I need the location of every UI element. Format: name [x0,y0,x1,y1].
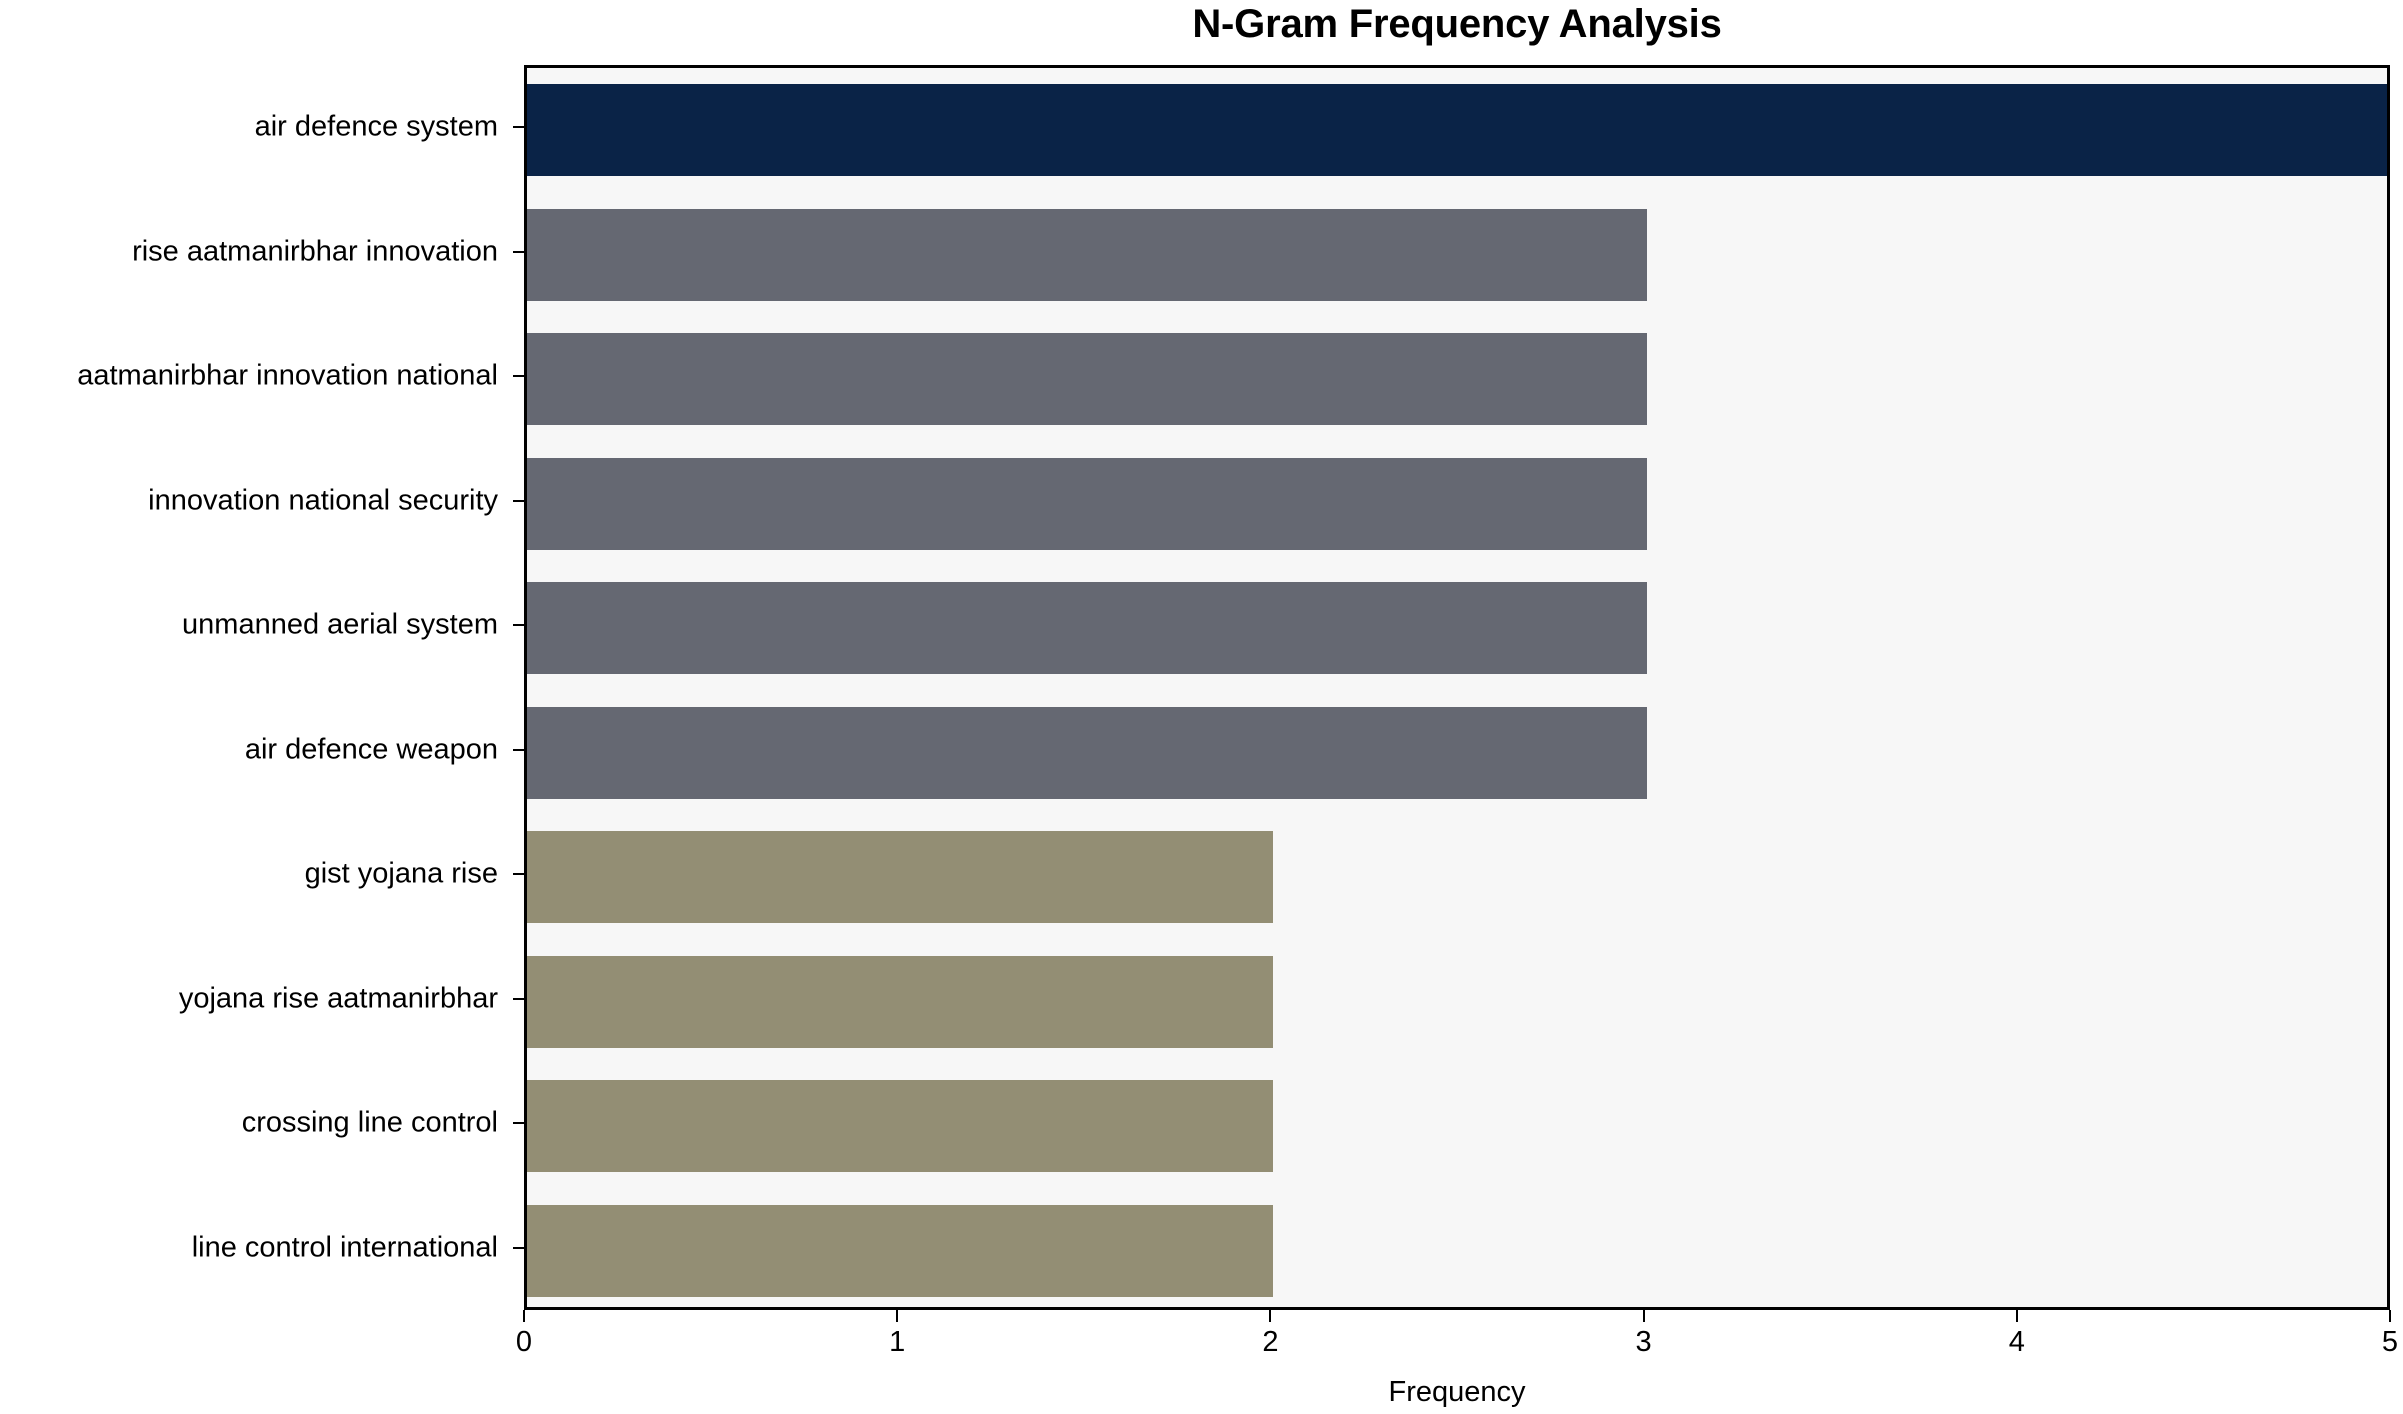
bar-row [527,831,2387,923]
y-tick-label: air defence system [255,111,498,144]
y-tick-label: unmanned aerial system [182,609,498,642]
y-tick-mark [513,873,524,875]
bar-row [527,209,2387,301]
x-tick-mark [1643,1310,1645,1322]
x-tick-mark [2389,1310,2391,1322]
bars-layer [527,68,2387,1307]
bar-line-control-international[interactable] [527,1205,1273,1297]
bar-rise-aatmanirbhar-innovation[interactable] [527,209,1647,301]
y-tick-label: gist yojana rise [305,858,498,891]
y-tick-label: rise aatmanirbhar innovation [132,235,498,268]
y-tick-mark [513,500,524,502]
x-tick-label: 0 [516,1326,532,1359]
y-axis: air defence systemrise aatmanirbhar inno… [0,65,524,1310]
x-tick-label: 5 [2382,1326,2398,1359]
x-axis: Frequency 012345 [524,1310,2390,1414]
bar-row [527,956,2387,1048]
x-tick-mark [1269,1310,1271,1322]
x-tick-label: 4 [2009,1326,2025,1359]
plot-area [524,65,2390,1310]
x-axis-title: Frequency [524,1376,2390,1409]
y-tick-label: aatmanirbhar innovation national [77,360,498,393]
bar-row [527,1205,2387,1297]
figure-canvas: N-Gram Frequency Analysis air defence sy… [0,0,2403,1414]
bar-row [527,1080,2387,1172]
y-tick-label: crossing line control [242,1107,498,1140]
y-tick-label: line control international [192,1231,498,1264]
bar-air-defence-weapon[interactable] [527,707,1647,799]
x-tick-label: 3 [1636,1326,1652,1359]
chart-title: N-Gram Frequency Analysis [524,2,2390,47]
y-tick-label: air defence weapon [245,733,498,766]
y-tick-mark [513,375,524,377]
x-tick-mark [523,1310,525,1322]
x-tick-label: 2 [1262,1326,1278,1359]
bar-yojana-rise-aatmanirbhar[interactable] [527,956,1273,1048]
bar-row [527,582,2387,674]
y-tick-label: yojana rise aatmanirbhar [179,982,498,1015]
bar-gist-yojana-rise[interactable] [527,831,1273,923]
bar-air-defence-system[interactable] [527,84,2387,176]
x-tick-label: 1 [889,1326,905,1359]
y-tick-mark [513,126,524,128]
bar-row [527,333,2387,425]
x-tick-mark [896,1310,898,1322]
bar-row [527,84,2387,176]
y-tick-label: innovation national security [148,484,498,517]
x-tick-mark [2016,1310,2018,1322]
y-tick-mark [513,1122,524,1124]
bar-row [527,707,2387,799]
y-tick-mark [513,998,524,1000]
bar-unmanned-aerial-system[interactable] [527,582,1647,674]
y-tick-mark [513,251,524,253]
y-tick-mark [513,1247,524,1249]
bar-innovation-national-security[interactable] [527,458,1647,550]
bar-aatmanirbhar-innovation-national[interactable] [527,333,1647,425]
y-tick-mark [513,624,524,626]
bar-row [527,458,2387,550]
bar-crossing-line-control[interactable] [527,1080,1273,1172]
y-tick-mark [513,749,524,751]
